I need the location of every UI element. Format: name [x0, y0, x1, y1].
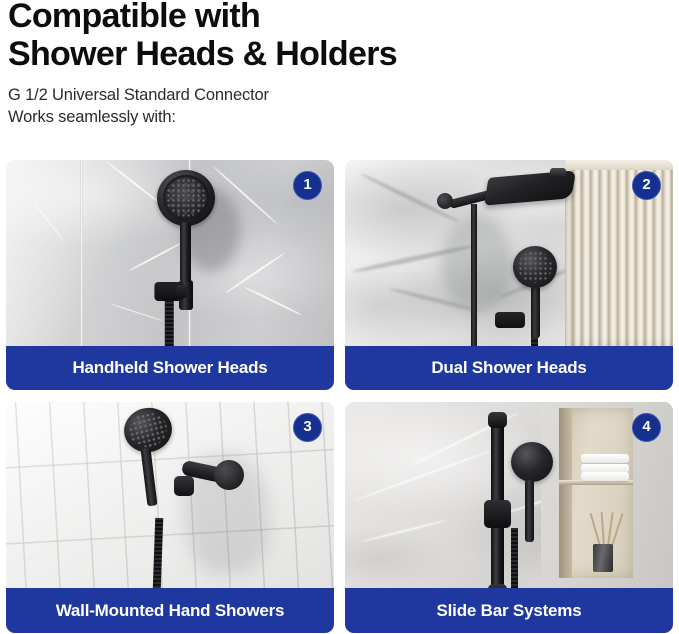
- card-3-number-badge: 3: [293, 413, 322, 442]
- fluted-panel-top-edge: [565, 160, 673, 170]
- card-2-number-badge: 2: [632, 171, 661, 200]
- subhead-line-2: Works seamlessly with:: [8, 107, 673, 129]
- shower-head-neck: [180, 222, 191, 282]
- shower-head-disc: [157, 170, 215, 226]
- card-4-photo: 4: [345, 402, 673, 588]
- header-block: Compatible with Shower Heads & Holders G…: [6, 0, 673, 129]
- shower-head-neck: [141, 448, 158, 507]
- card-1-number-badge: 1: [293, 171, 322, 200]
- card-3-caption: Wall-Mounted Hand Showers: [6, 588, 334, 633]
- headline-line-2: Shower Heads & Holders: [8, 35, 673, 73]
- slide-bracket-holder: [495, 312, 525, 328]
- headline-line-1: Compatible with: [8, 0, 673, 35]
- card-2-caption: Dual Shower Heads: [345, 346, 673, 390]
- hand-shower: [124, 408, 172, 506]
- shower-head-neck: [531, 286, 540, 338]
- swivel-joint: [174, 476, 194, 496]
- compatibility-card-4[interactable]: 4 Slide Bar Systems: [345, 402, 673, 633]
- shower-hose: [165, 298, 174, 346]
- card-1-photo: 1: [6, 160, 334, 346]
- shower-head-disc: [513, 246, 557, 288]
- infographic-page: Compatible with Shower Heads & Holders G…: [0, 0, 679, 631]
- handheld-shower-head: [511, 442, 553, 542]
- page-title: Compatible with Shower Heads & Holders: [8, 0, 673, 74]
- reed-diffuser-jar: [593, 544, 613, 572]
- compatibility-card-grid: 1 Handheld Shower Heads: [6, 160, 673, 633]
- card-1-caption: Handheld Shower Heads: [6, 346, 334, 390]
- wall-flange: [437, 193, 453, 209]
- card-4-number-badge: 4: [632, 413, 661, 442]
- shower-head-disc: [511, 442, 553, 482]
- card-2-photo: 2: [345, 160, 673, 346]
- tile-grout-line: [80, 160, 83, 346]
- riser-rail: [471, 204, 477, 346]
- niche-side-wall: [559, 408, 572, 578]
- folded-towel: [581, 454, 629, 463]
- slide-bar-top-cap: [488, 412, 507, 428]
- card-4-caption: Slide Bar Systems: [345, 588, 673, 633]
- folded-towel: [581, 472, 629, 481]
- shower-head-neck: [525, 480, 534, 542]
- shower-head-face: [163, 175, 209, 220]
- slide-bar-holder: [484, 500, 511, 528]
- page-subtitle: G 1/2 Universal Standard Connector Works…: [8, 85, 673, 129]
- card-3-photo: 3: [6, 402, 334, 588]
- compatibility-card-3[interactable]: 3 Wall-Mounted Hand Showers: [6, 402, 334, 633]
- drop-shadow: [441, 216, 513, 312]
- slide-bar-bottom-cap: [488, 584, 507, 588]
- rainfall-head-cap: [550, 168, 566, 178]
- wall-flange: [214, 460, 244, 490]
- compatibility-card-1[interactable]: 1 Handheld Shower Heads: [6, 160, 334, 390]
- wall-bracket-holder: [154, 282, 184, 301]
- subhead-line-1: G 1/2 Universal Standard Connector: [8, 85, 673, 107]
- compatibility-card-2[interactable]: 2 Dual Shower Heads: [345, 160, 673, 390]
